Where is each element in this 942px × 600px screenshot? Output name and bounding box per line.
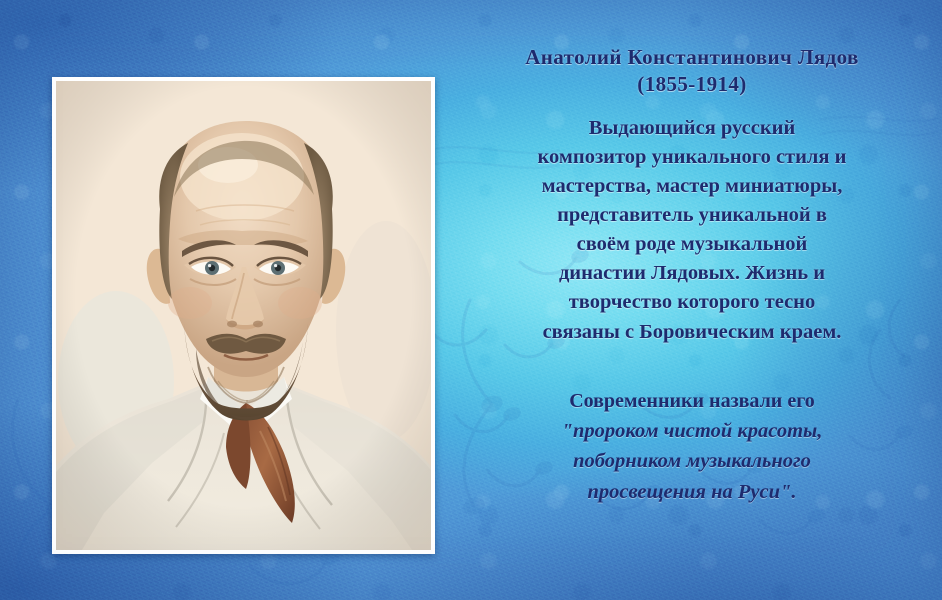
quote-line: просвещения на Руси". — [474, 478, 910, 507]
portrait-image — [56, 81, 431, 550]
quote-lead: Современники назвали его — [474, 387, 910, 415]
biography-line: мастерства, мастер миниатюры, — [476, 172, 908, 201]
biography-line: композитор уникального стиля и — [476, 143, 908, 172]
biography-line: творчество которого тесно — [476, 288, 908, 317]
quote-line: "пророком чистой красоты, — [474, 417, 910, 446]
biography-line: своём роде музыкальной — [476, 230, 908, 259]
biography-line: династии Лядовых. Жизнь и — [476, 259, 908, 288]
biography-line: Выдающийся русский — [476, 114, 908, 143]
portrait-frame — [52, 77, 435, 554]
presentation-slide: Анатолий Константинович Лядов (1855-1914… — [0, 0, 942, 600]
biography-paragraph: Выдающийся русский композитор уникальног… — [452, 114, 932, 347]
text-column: Анатолий Константинович Лядов (1855-1914… — [452, 0, 932, 600]
composer-lifespan: (1855-1914) — [452, 71, 932, 98]
biography-line: связаны с Боровическим краем. — [476, 318, 908, 347]
quote-line: поборником музыкального — [474, 447, 910, 476]
composer-name: Анатолий Константинович Лядов — [452, 44, 932, 71]
quote-block: Современники назвали его "пророком чисто… — [452, 387, 932, 507]
biography-line: представитель уникальной в — [476, 201, 908, 230]
